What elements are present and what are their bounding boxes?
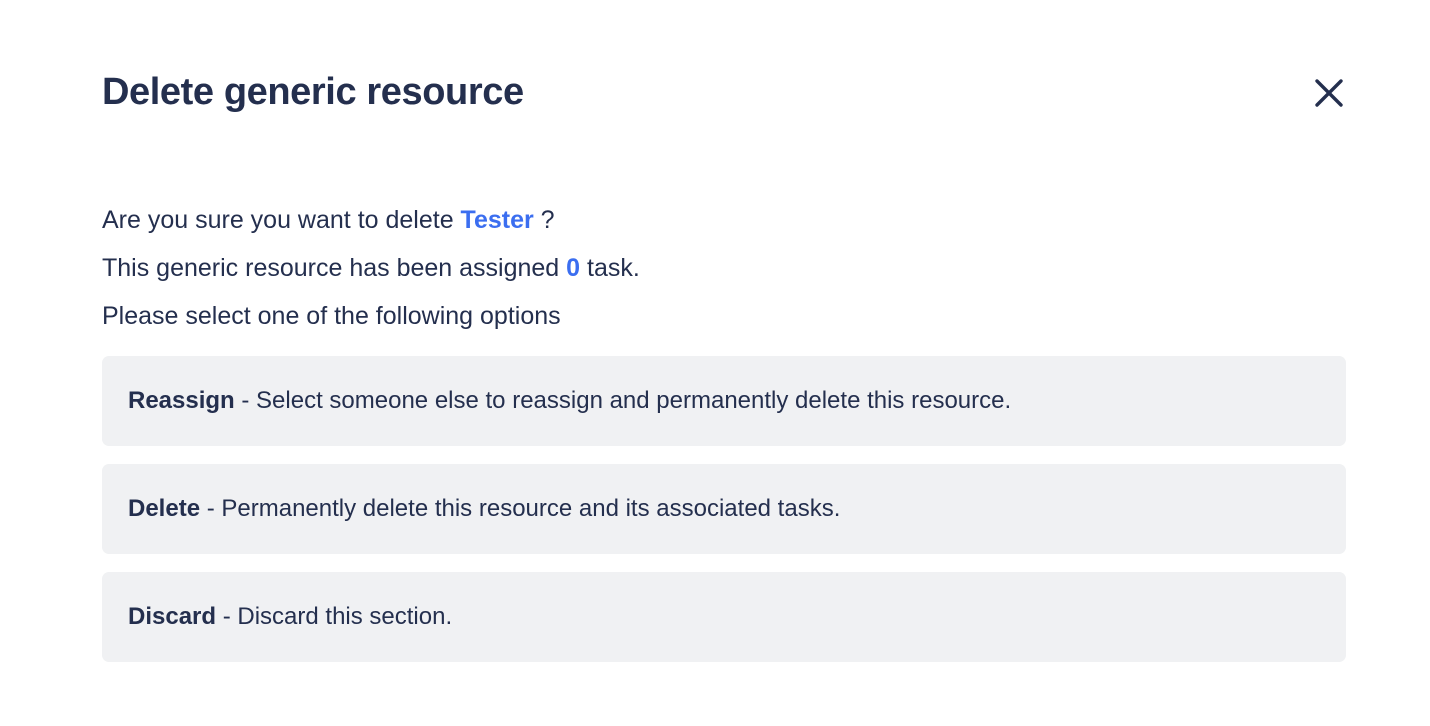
option-delete-separator: - [200, 495, 221, 522]
option-discard-separator: - [216, 603, 237, 630]
option-reassign-separator: - [235, 387, 256, 414]
close-button[interactable] [1306, 70, 1352, 116]
page-title: Delete generic resource [102, 72, 524, 114]
close-icon [1312, 76, 1346, 110]
option-discard[interactable]: Discard - Discard this section. [102, 572, 1346, 662]
option-reassign-description: Select someone else to reassign and perm… [256, 387, 1011, 414]
option-delete[interactable]: Delete - Permanently delete this resourc… [102, 464, 1346, 554]
option-reassign[interactable]: Reassign - Select someone else to reassi… [102, 356, 1346, 446]
option-reassign-name: Reassign [128, 387, 235, 414]
options-list: Reassign - Select someone else to reassi… [102, 356, 1346, 662]
resource-name: Tester [461, 206, 534, 234]
option-discard-name: Discard [128, 603, 216, 630]
delete-generic-resource-dialog: Delete generic resource Are you sure you… [0, 0, 1430, 726]
option-discard-text: Discard - Discard this section. [128, 603, 452, 632]
message-line1-prefix: Are you sure you want to delete [102, 206, 461, 234]
dialog-header: Delete generic resource [102, 60, 1348, 126]
dialog-message: Are you sure you want to delete Tester ?… [102, 196, 1348, 340]
message-line-instruction: Please select one of the following optio… [102, 292, 1348, 340]
option-delete-text: Delete - Permanently delete this resourc… [128, 495, 840, 524]
option-discard-description: Discard this section. [237, 603, 452, 630]
message-line2-suffix: task. [580, 254, 640, 282]
message-line-task-count: This generic resource has been assigned … [102, 244, 1348, 292]
option-reassign-text: Reassign - Select someone else to reassi… [128, 387, 1011, 416]
option-delete-description: Permanently delete this resource and its… [221, 495, 840, 522]
option-delete-name: Delete [128, 495, 200, 522]
message-line2-prefix: This generic resource has been assigned [102, 254, 566, 282]
message-line-confirm: Are you sure you want to delete Tester ? [102, 196, 1348, 244]
message-line1-suffix: ? [534, 206, 555, 234]
task-count: 0 [566, 254, 580, 282]
